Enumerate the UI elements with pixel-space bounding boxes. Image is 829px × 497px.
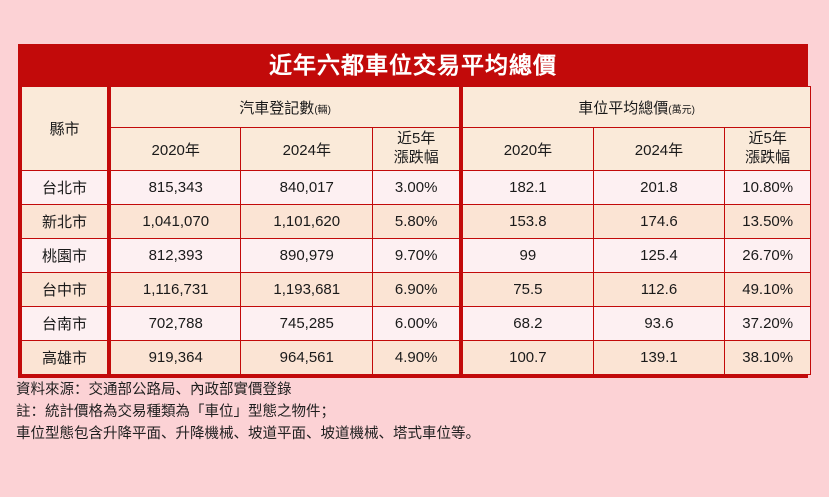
cell-price-change: 10.80% [725,171,811,205]
header-group-parking-price: 車位平均總價(萬元) [461,87,810,128]
table-row: 台北市 815,343 840,017 3.00% 182.1 201.8 10… [22,171,811,205]
header-city: 縣市 [22,87,110,171]
cell-cars-change: 3.00% [373,171,462,205]
note-line-3: 車位型態包含升降平面、升降機械、坡道平面、坡道機械、塔式車位等。 [16,423,816,445]
cell-cars-2020: 702,788 [109,307,241,341]
cell-cars-2020: 812,393 [109,239,241,273]
cell-cars-2024: 890,979 [241,239,373,273]
note-line-2: 註：統計價格為交易種類為「車位」型態之物件； [16,401,816,423]
header-price-2020: 2020年 [461,128,593,171]
table-row: 新北市 1,041,070 1,101,620 5.80% 153.8 174.… [22,205,811,239]
parking-price-table: 縣市 汽車登記數(輛) 車位平均總價(萬元) 2020年 2024年 近5年 漲… [21,86,811,375]
cell-cars-change: 4.90% [373,341,462,375]
cell-price-2020: 68.2 [461,307,593,341]
table-head: 縣市 汽車登記數(輛) 車位平均總價(萬元) 2020年 2024年 近5年 漲… [22,87,811,171]
cell-price-2024: 201.8 [593,171,725,205]
table-row: 台南市 702,788 745,285 6.00% 68.2 93.6 37.2… [22,307,811,341]
infographic-root: 近年六都車位交易平均總價 縣市 汽車登記數(輛) 車位平均總價(萬元) [0,0,829,497]
cell-cars-change: 6.90% [373,273,462,307]
cell-price-2024: 112.6 [593,273,725,307]
cell-price-2024: 174.6 [593,205,725,239]
header-cars-change-line1: 近5年 [373,130,459,149]
cell-city: 新北市 [22,205,110,239]
cell-price-change: 37.20% [725,307,811,341]
cell-cars-change: 6.00% [373,307,462,341]
cell-cars-2024: 964,561 [241,341,373,375]
cell-city: 台北市 [22,171,110,205]
cell-cars-2024: 1,193,681 [241,273,373,307]
cell-city: 高雄市 [22,341,110,375]
cell-price-2020: 182.1 [461,171,593,205]
header-row-subs: 2020年 2024年 近5年 漲跌幅 2020年 2024年 近5年 漲跌幅 [22,128,811,171]
table-body: 台北市 815,343 840,017 3.00% 182.1 201.8 10… [22,171,811,375]
header-row-groups: 縣市 汽車登記數(輛) 車位平均總價(萬元) [22,87,811,128]
cell-price-2024: 139.1 [593,341,725,375]
cell-cars-2024: 1,101,620 [241,205,373,239]
cell-cars-2020: 1,041,070 [109,205,241,239]
cell-price-2024: 93.6 [593,307,725,341]
header-group-parking-price-label: 車位平均總價 [578,100,668,117]
table-container: 近年六都車位交易平均總價 縣市 汽車登記數(輛) 車位平均總價(萬元) [18,44,808,378]
header-cars-2020: 2020年 [109,128,241,171]
table-row: 台中市 1,116,731 1,193,681 6.90% 75.5 112.6… [22,273,811,307]
cell-cars-change: 5.80% [373,205,462,239]
cell-price-2020: 99 [461,239,593,273]
footnotes: 資料來源：交通部公路局、內政部實價登錄 註：統計價格為交易種類為「車位」型態之物… [16,379,816,445]
header-cars-change-line2: 漲跌幅 [373,149,459,168]
header-price-change: 近5年 漲跌幅 [725,128,811,171]
header-group-car-registrations: 汽車登記數(輛) [109,87,461,128]
cell-city: 桃園市 [22,239,110,273]
cell-price-change: 13.50% [725,205,811,239]
header-price-change-line2: 漲跌幅 [725,149,810,168]
header-group-car-registrations-label: 汽車登記數 [239,100,314,117]
header-cars-change: 近5年 漲跌幅 [373,128,462,171]
cell-price-change: 49.10% [725,273,811,307]
cell-price-2024: 125.4 [593,239,725,273]
cell-cars-2020: 919,364 [109,341,241,375]
cell-cars-2024: 745,285 [241,307,373,341]
cell-price-change: 38.10% [725,341,811,375]
cell-price-2020: 100.7 [461,341,593,375]
cell-cars-change: 9.70% [373,239,462,273]
header-price-change-line1: 近5年 [725,130,810,149]
note-source: 資料來源：交通部公路局、內政部實價登錄 [16,379,816,401]
table-row: 高雄市 919,364 964,561 4.90% 100.7 139.1 38… [22,341,811,375]
cell-cars-2020: 815,343 [109,171,241,205]
cell-price-change: 26.70% [725,239,811,273]
cell-cars-2024: 840,017 [241,171,373,205]
cell-price-2020: 153.8 [461,205,593,239]
cell-city: 台中市 [22,273,110,307]
table-frame: 縣市 汽車登記數(輛) 車位平均總價(萬元) 2020年 2024年 近5年 漲… [18,86,808,378]
header-group-parking-price-unit: (萬元) [668,105,695,116]
header-group-car-registrations-unit: (輛) [314,105,331,116]
header-cars-2024: 2024年 [241,128,373,171]
cell-price-2020: 75.5 [461,273,593,307]
cell-city: 台南市 [22,307,110,341]
cell-cars-2020: 1,116,731 [109,273,241,307]
table-row: 桃園市 812,393 890,979 9.70% 99 125.4 26.70… [22,239,811,273]
header-price-2024: 2024年 [593,128,725,171]
page-title: 近年六都車位交易平均總價 [18,44,808,86]
